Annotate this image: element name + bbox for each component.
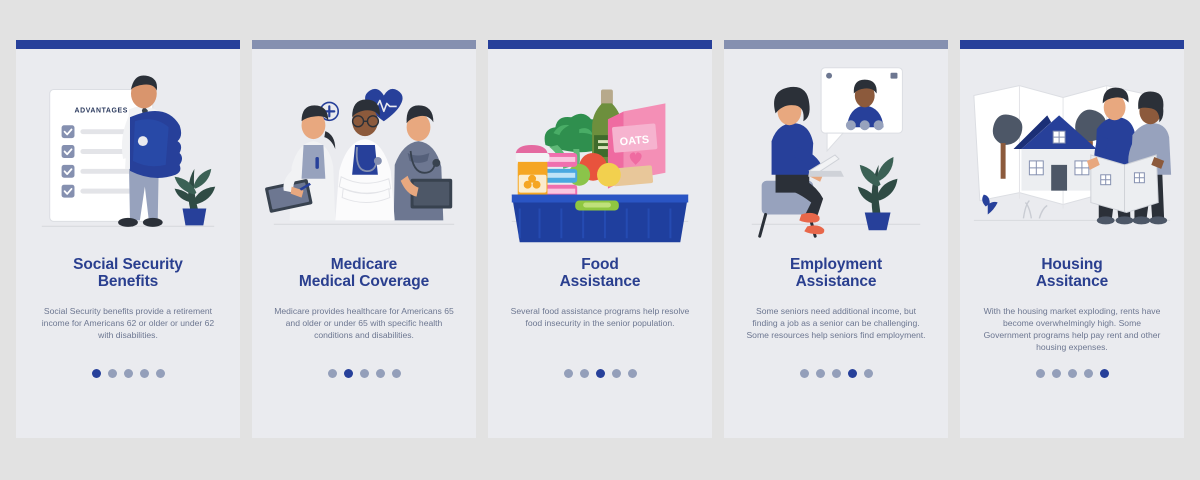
pagination-dot-5[interactable]	[864, 369, 873, 378]
card-description: Medicare provides healthcare for America…	[252, 305, 476, 342]
illustration-medical-professionals	[252, 49, 476, 254]
pagination-dots[interactable]	[92, 369, 165, 378]
card-title: Social Security Benefits	[63, 256, 193, 291]
card-description: Some seniors need additional income, but…	[724, 305, 948, 342]
pagination-dot-4[interactable]	[140, 369, 149, 378]
pagination-dot-4[interactable]	[1084, 369, 1093, 378]
card-title-line2: Benefits	[98, 273, 158, 290]
card-title: Food Assistance	[550, 256, 651, 291]
svg-text:OATS: OATS	[619, 134, 649, 149]
card-accent-bar	[724, 40, 948, 49]
illustration-couple-with-map-and-house	[960, 49, 1184, 254]
pagination-dots[interactable]	[564, 369, 637, 378]
card-description: Social Security benefits provide a retir…	[16, 305, 240, 342]
pagination-dot-3[interactable]	[124, 369, 133, 378]
benefits-card-row: ADVANTAGES	[0, 0, 1200, 480]
pagination-dot-3[interactable]	[596, 369, 605, 378]
pagination-dot-1[interactable]	[328, 369, 337, 378]
pagination-dot-5[interactable]	[1100, 369, 1109, 378]
pagination-dot-3[interactable]	[1068, 369, 1077, 378]
pagination-dot-1[interactable]	[800, 369, 809, 378]
card-title-line2: Assistance	[796, 273, 877, 290]
pagination-dot-2[interactable]	[344, 369, 353, 378]
card-title-line1: Housing	[1041, 256, 1102, 273]
card-description: With the housing market exploding, rents…	[960, 305, 1184, 354]
illustration-grocery-crate: OATS	[488, 49, 712, 254]
pagination-dots[interactable]	[1036, 369, 1109, 378]
card-title-line2: Assitance	[1036, 273, 1108, 290]
card-accent-bar	[16, 40, 240, 49]
pagination-dot-5[interactable]	[392, 369, 401, 378]
card-food-assistance[interactable]: OATS	[488, 40, 712, 438]
pagination-dot-3[interactable]	[360, 369, 369, 378]
card-description: Several food assistance programs help re…	[488, 305, 712, 329]
pagination-dot-4[interactable]	[376, 369, 385, 378]
card-title-line2: Assistance	[560, 273, 641, 290]
pagination-dots[interactable]	[800, 369, 873, 378]
card-accent-bar	[252, 40, 476, 49]
pagination-dot-2[interactable]	[108, 369, 117, 378]
pagination-dot-4[interactable]	[848, 369, 857, 378]
card-housing-assistance[interactable]: Housing Assitance With the housing marke…	[960, 40, 1184, 438]
card-accent-bar	[960, 40, 1184, 49]
card-employment-assistance[interactable]: Employment Assistance Some seniors need …	[724, 40, 948, 438]
pagination-dot-1[interactable]	[92, 369, 101, 378]
pagination-dot-5[interactable]	[628, 369, 637, 378]
card-title: Employment Assistance	[780, 256, 892, 291]
card-title-line1: Food	[581, 256, 618, 273]
illustration-video-call-laptop	[724, 49, 948, 254]
pagination-dot-2[interactable]	[1052, 369, 1061, 378]
card-title: Housing Assitance	[1026, 256, 1118, 291]
card-medicare-medical-coverage[interactable]: Medicare Medical Coverage Medicare provi…	[252, 40, 476, 438]
card-social-security-benefits[interactable]: ADVANTAGES	[16, 40, 240, 438]
pagination-dot-5[interactable]	[156, 369, 165, 378]
card-title-line1: Employment	[790, 256, 882, 273]
svg-text:ADVANTAGES: ADVANTAGES	[75, 107, 128, 114]
pagination-dot-2[interactable]	[816, 369, 825, 378]
pagination-dot-1[interactable]	[1036, 369, 1045, 378]
card-title-line1: Medicare	[331, 256, 397, 273]
card-title-line1: Social Security	[73, 256, 183, 273]
pagination-dot-4[interactable]	[612, 369, 621, 378]
card-title-line2: Medical Coverage	[299, 273, 429, 290]
pagination-dots[interactable]	[328, 369, 401, 378]
pagination-dot-1[interactable]	[564, 369, 573, 378]
card-accent-bar	[488, 40, 712, 49]
illustration-man-thumbs-up-advantages: ADVANTAGES	[16, 49, 240, 254]
pagination-dot-3[interactable]	[832, 369, 841, 378]
card-title: Medicare Medical Coverage	[289, 256, 439, 291]
pagination-dot-2[interactable]	[580, 369, 589, 378]
